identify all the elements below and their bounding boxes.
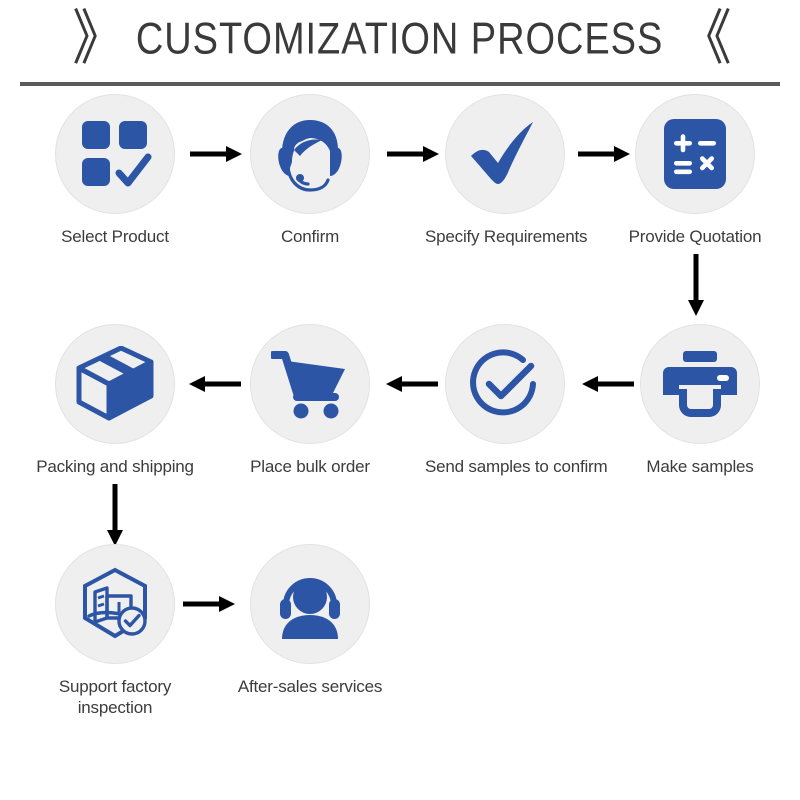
flow-step-provide-quotation[interactable]: Provide Quotation	[615, 94, 775, 247]
connector-arrow-down	[105, 484, 125, 546]
flow-step-label: After-sales services	[230, 676, 390, 697]
shopping-cart-icon	[271, 349, 349, 419]
step-icon-circle	[250, 544, 370, 664]
connector-arrow-down	[686, 254, 706, 316]
flow-step-support-factory-inspection[interactable]: Support factory inspection	[35, 544, 195, 719]
step-icon-circle	[55, 544, 175, 664]
flow-step-label: Select Product	[35, 226, 195, 247]
step-icon-circle	[445, 324, 565, 444]
printer-icon	[661, 349, 739, 419]
step-icon-circle	[55, 94, 175, 214]
checkmark-icon	[467, 118, 543, 190]
step-icon-circle	[445, 94, 565, 214]
grid-check-icon	[78, 117, 152, 191]
chevron-left-double-icon: 《	[680, 9, 728, 69]
title-row: 》 CUSTOMIZATION PROCESS 《	[0, 8, 800, 70]
calculator-icon	[662, 117, 728, 191]
step-icon-circle	[55, 324, 175, 444]
flow-step-label: Make samples	[620, 456, 780, 477]
factory-shield-check-icon	[77, 566, 153, 642]
headset-agent-icon	[270, 114, 350, 194]
process-flow-diagram: Select Product	[0, 86, 800, 796]
chevron-right-double-icon: 》	[72, 9, 120, 69]
check-circle-icon	[467, 346, 543, 422]
flow-step-confirm[interactable]: Confirm	[230, 94, 390, 247]
flow-step-label: Place bulk order	[230, 456, 390, 477]
flow-step-send-samples-to-confirm[interactable]: Send samples to confirm	[425, 324, 585, 477]
flow-step-after-sales-services[interactable]: After-sales services	[230, 544, 390, 697]
flow-step-place-bulk-order[interactable]: Place bulk order	[230, 324, 390, 477]
step-icon-circle	[250, 94, 370, 214]
flow-step-packing-and-shipping[interactable]: Packing and shipping	[35, 324, 195, 477]
step-icon-circle	[640, 324, 760, 444]
flow-step-specify-requirements[interactable]: Specify Requirements	[425, 94, 585, 247]
page-header: 》 CUSTOMIZATION PROCESS 《	[0, 0, 800, 86]
flow-step-label: Packing and shipping	[35, 456, 195, 477]
step-icon-circle	[250, 324, 370, 444]
page-title: CUSTOMIZATION PROCESS	[136, 14, 663, 64]
flow-step-make-samples[interactable]: Make samples	[620, 324, 780, 477]
flow-step-label: Confirm	[230, 226, 390, 247]
step-icon-circle	[635, 94, 755, 214]
connector-arrow-right	[183, 594, 235, 614]
flow-step-select-product[interactable]: Select Product	[35, 94, 195, 247]
flow-step-label: Specify Requirements	[425, 226, 585, 247]
support-person-icon	[272, 569, 348, 639]
flow-step-label: Send samples to confirm	[425, 456, 585, 477]
package-box-icon	[76, 346, 154, 422]
flow-step-label: Provide Quotation	[615, 226, 775, 247]
flow-step-label: Support factory inspection	[35, 676, 195, 719]
